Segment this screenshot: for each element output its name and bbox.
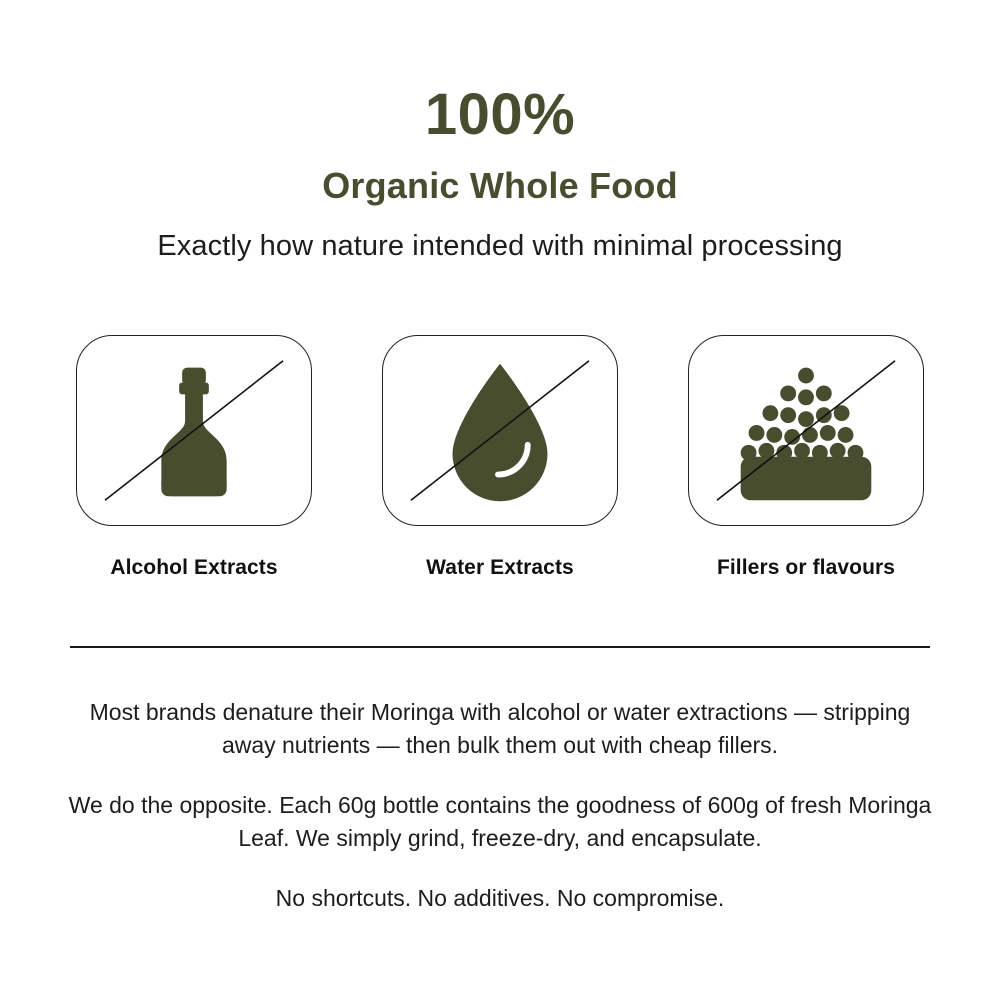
fillers-pile-crossed-out-icon xyxy=(689,336,923,525)
header: 100% Organic Whole Food Exactly how natu… xyxy=(0,0,1000,261)
body-paragraph-1: Most brands denature their Moringa with … xyxy=(60,696,940,762)
icon-box-water xyxy=(382,335,618,526)
icon-box-fillers xyxy=(688,335,924,526)
filler-granules xyxy=(741,368,872,501)
filler-tray xyxy=(741,457,872,501)
bottle-crossed-out-icon xyxy=(77,336,311,525)
water-drop-crossed-out-icon xyxy=(383,336,617,525)
icon-box-alcohol xyxy=(76,335,312,526)
feature-icon-row: Alcohol Extracts Water Extracts xyxy=(0,335,1000,580)
headline-tagline: Exactly how nature intended with minimal… xyxy=(0,232,1000,261)
feature-label-fillers-flavours: Fillers or flavours xyxy=(717,556,895,580)
body-paragraph-2: We do the opposite. Each 60g bottle cont… xyxy=(60,789,940,855)
section-divider xyxy=(70,646,930,648)
feature-label-water-extracts: Water Extracts xyxy=(426,556,574,580)
feature-item-fillers-flavours: Fillers or flavours xyxy=(688,335,924,580)
body-paragraph-3: No shortcuts. No additives. No compromis… xyxy=(60,882,940,915)
headline-percent: 100% xyxy=(0,86,1000,144)
body-copy: Most brands denature their Moringa with … xyxy=(60,696,940,916)
feature-item-alcohol-extracts: Alcohol Extracts xyxy=(76,335,312,580)
headline-title: Organic Whole Food xyxy=(0,168,1000,204)
feature-item-water-extracts: Water Extracts xyxy=(382,335,618,580)
promo-page: 100% Organic Whole Food Exactly how natu… xyxy=(0,0,1000,1000)
feature-label-alcohol-extracts: Alcohol Extracts xyxy=(110,556,277,580)
